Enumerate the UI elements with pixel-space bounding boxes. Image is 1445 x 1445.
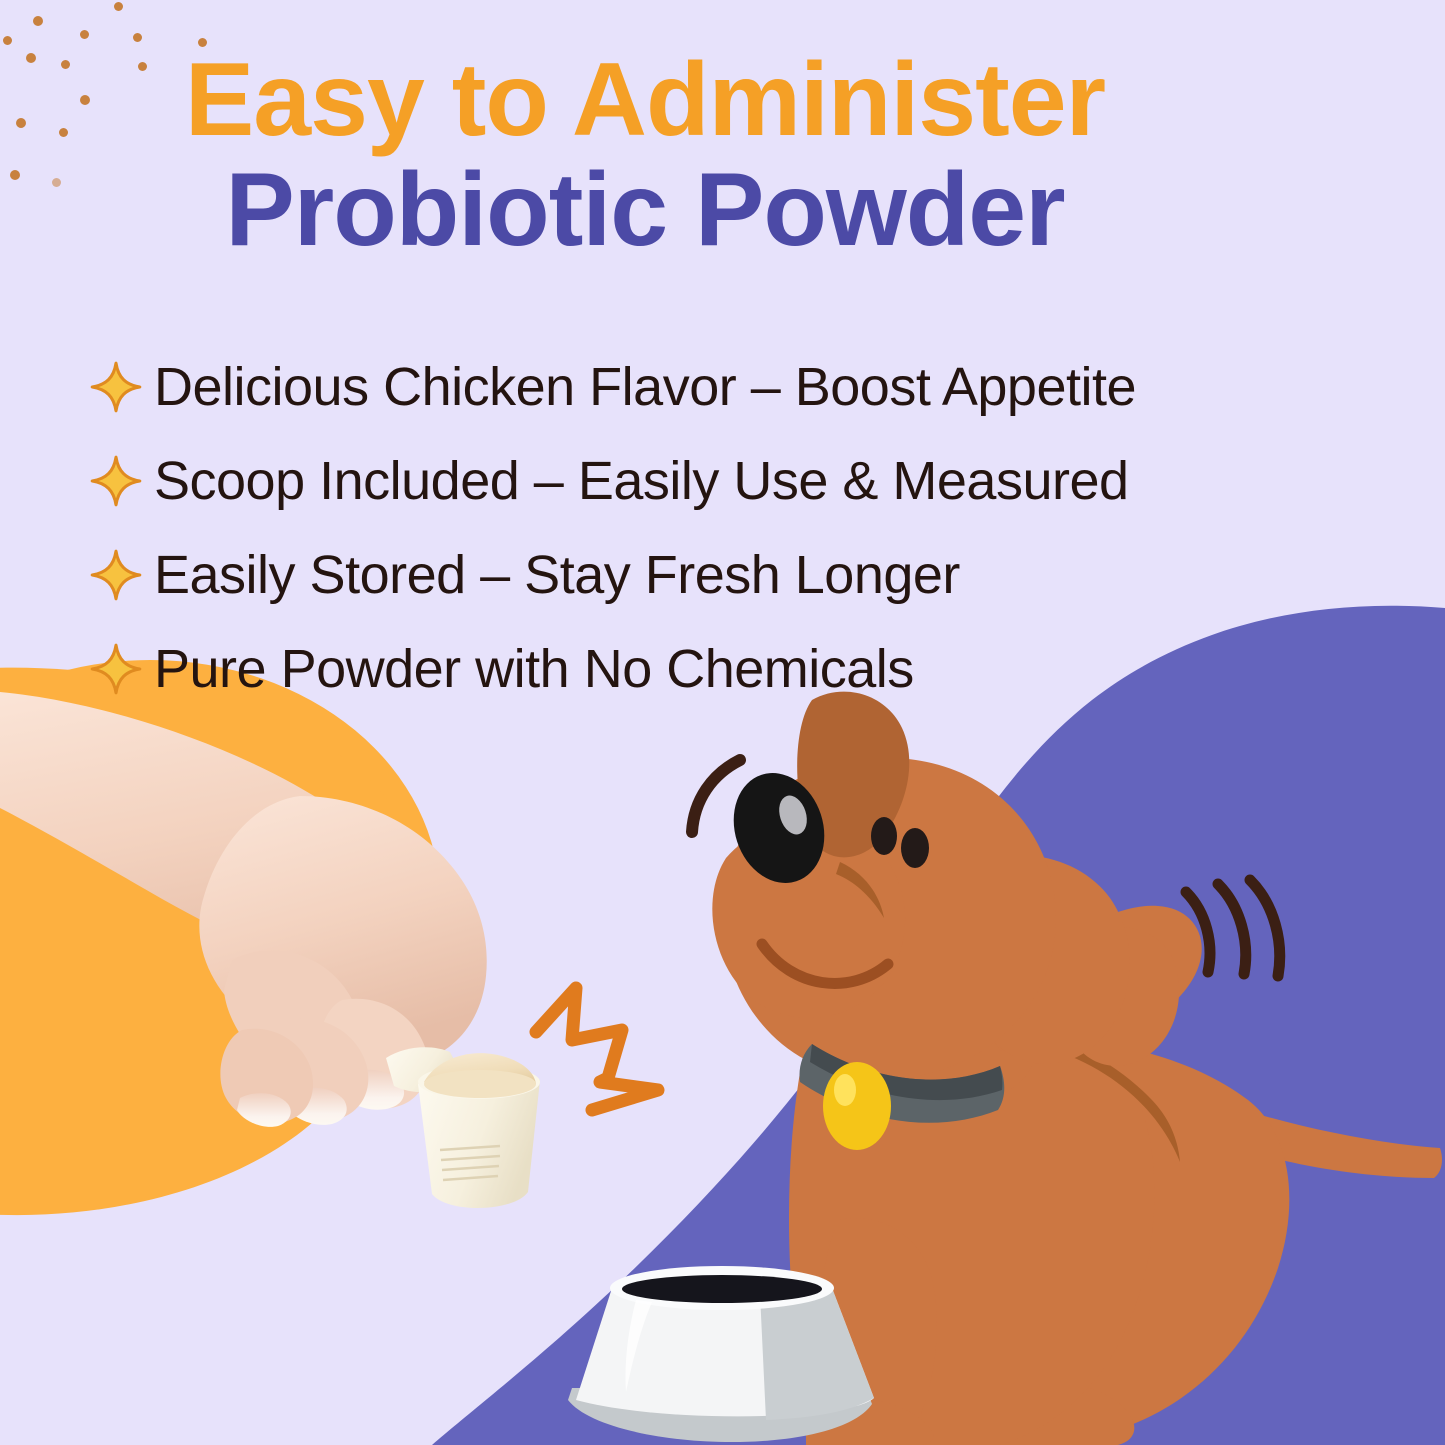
infographic-canvas: Easy to Administer Probiotic Powder Deli… bbox=[0, 0, 1445, 1445]
powder-surface bbox=[424, 1070, 536, 1098]
hand-holding-measuring-scoop bbox=[0, 0, 1445, 1445]
